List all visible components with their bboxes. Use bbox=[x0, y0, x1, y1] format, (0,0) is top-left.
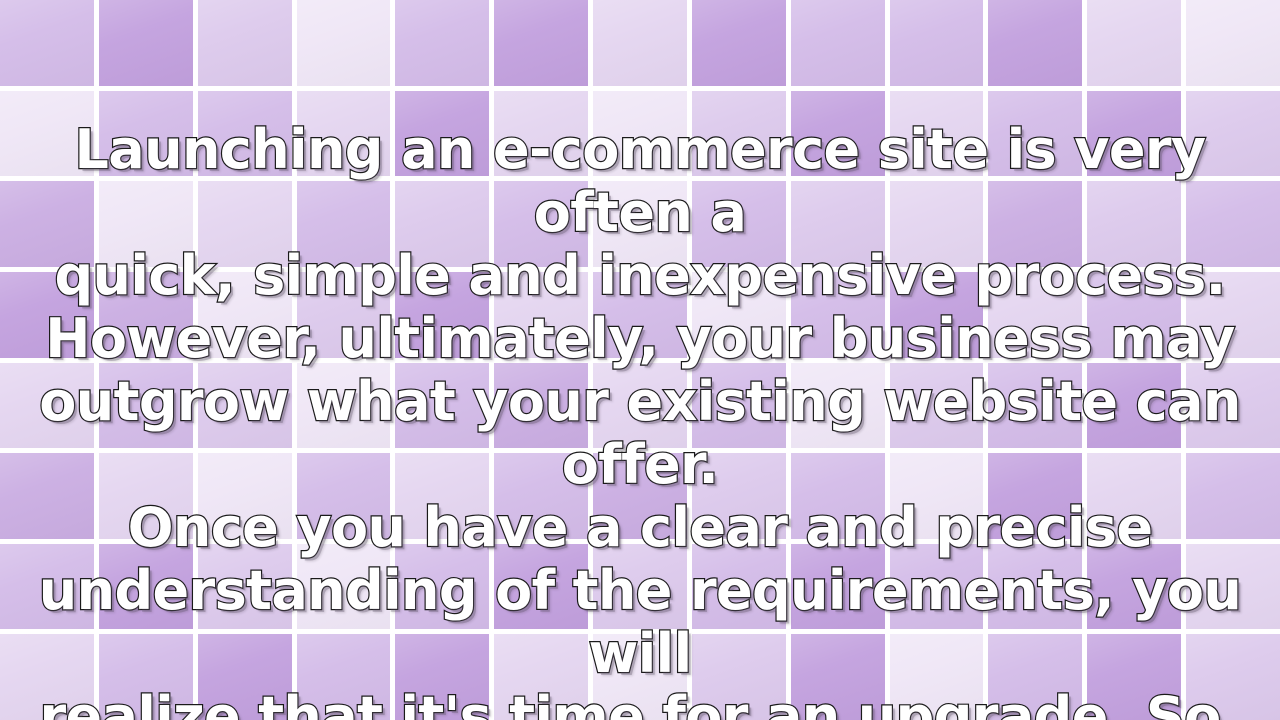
background-tile bbox=[692, 363, 786, 449]
background-tile bbox=[395, 544, 489, 630]
background-tile bbox=[593, 272, 687, 358]
background-tile bbox=[0, 91, 94, 177]
background-tile bbox=[890, 544, 984, 630]
background-tile bbox=[791, 181, 885, 267]
background-tile bbox=[494, 363, 588, 449]
background-tile bbox=[692, 634, 786, 720]
background-tile bbox=[297, 181, 391, 267]
background-tile bbox=[1087, 544, 1181, 630]
background-tile bbox=[1087, 181, 1181, 267]
background-tile bbox=[890, 91, 984, 177]
background-tile bbox=[692, 453, 786, 539]
background-tile bbox=[297, 634, 391, 720]
background-tile bbox=[988, 544, 1082, 630]
background-tile bbox=[395, 363, 489, 449]
background-tile bbox=[99, 91, 193, 177]
background-tile bbox=[593, 363, 687, 449]
background-tile bbox=[593, 453, 687, 539]
background-tile bbox=[692, 272, 786, 358]
background-tile bbox=[988, 91, 1082, 177]
background-tile bbox=[1186, 91, 1280, 177]
background-tile bbox=[692, 181, 786, 267]
background-tile bbox=[988, 634, 1082, 720]
background-tile bbox=[99, 0, 193, 86]
background-tile bbox=[494, 453, 588, 539]
background-tile bbox=[1087, 272, 1181, 358]
background-tile bbox=[1186, 0, 1280, 86]
background-tile bbox=[1186, 544, 1280, 630]
background-tile bbox=[791, 363, 885, 449]
background-tile bbox=[198, 363, 292, 449]
background-tile bbox=[99, 544, 193, 630]
background-tile bbox=[988, 272, 1082, 358]
background-tile bbox=[297, 453, 391, 539]
background-tile bbox=[890, 181, 984, 267]
background-tile bbox=[890, 634, 984, 720]
background-tile bbox=[988, 363, 1082, 449]
background-tile bbox=[1186, 272, 1280, 358]
background-tile bbox=[198, 272, 292, 358]
checkered-background bbox=[0, 0, 1280, 720]
background-tile bbox=[593, 181, 687, 267]
background-tile bbox=[988, 181, 1082, 267]
background-tile bbox=[395, 0, 489, 86]
background-tile bbox=[0, 0, 94, 86]
background-tile bbox=[297, 544, 391, 630]
background-tile bbox=[1186, 181, 1280, 267]
quote-card: Launching an e-commerce site is very oft… bbox=[0, 0, 1280, 720]
background-tile bbox=[593, 634, 687, 720]
background-tile bbox=[1087, 363, 1181, 449]
background-tile bbox=[99, 453, 193, 539]
background-tile bbox=[791, 544, 885, 630]
background-tile bbox=[593, 0, 687, 86]
background-tile bbox=[890, 453, 984, 539]
background-tile bbox=[692, 0, 786, 86]
background-tile bbox=[1186, 453, 1280, 539]
background-tile bbox=[593, 91, 687, 177]
background-tile bbox=[297, 91, 391, 177]
background-tile bbox=[593, 544, 687, 630]
background-tile bbox=[99, 634, 193, 720]
background-tile bbox=[494, 0, 588, 86]
background-tile bbox=[890, 272, 984, 358]
background-tile bbox=[494, 91, 588, 177]
background-tile bbox=[99, 363, 193, 449]
background-tile bbox=[99, 181, 193, 267]
background-tile bbox=[791, 91, 885, 177]
background-tile bbox=[494, 181, 588, 267]
background-tile bbox=[1186, 634, 1280, 720]
background-tile bbox=[890, 0, 984, 86]
background-tile bbox=[0, 453, 94, 539]
background-tile bbox=[0, 363, 94, 449]
background-tile bbox=[395, 272, 489, 358]
background-tile bbox=[1087, 91, 1181, 177]
background-tile bbox=[395, 634, 489, 720]
background-tile bbox=[297, 272, 391, 358]
background-tile bbox=[1087, 453, 1181, 539]
background-tile bbox=[791, 453, 885, 539]
background-tile bbox=[198, 634, 292, 720]
background-tile bbox=[791, 272, 885, 358]
background-tile bbox=[791, 634, 885, 720]
background-tile bbox=[395, 181, 489, 267]
background-tile bbox=[395, 453, 489, 539]
background-tile bbox=[494, 544, 588, 630]
background-tile bbox=[198, 453, 292, 539]
background-tile bbox=[494, 272, 588, 358]
background-tile bbox=[494, 634, 588, 720]
background-tile bbox=[99, 272, 193, 358]
background-tile bbox=[988, 453, 1082, 539]
background-tile bbox=[791, 0, 885, 86]
background-tile bbox=[692, 91, 786, 177]
background-tile bbox=[988, 0, 1082, 86]
background-tile bbox=[1186, 363, 1280, 449]
background-tile bbox=[395, 91, 489, 177]
background-tile bbox=[692, 544, 786, 630]
background-tile bbox=[198, 544, 292, 630]
background-tile bbox=[198, 91, 292, 177]
background-tile bbox=[198, 0, 292, 86]
background-tile bbox=[0, 272, 94, 358]
background-tile bbox=[1087, 634, 1181, 720]
background-tile bbox=[198, 181, 292, 267]
background-tile bbox=[0, 634, 94, 720]
background-tile bbox=[1087, 0, 1181, 86]
background-tile bbox=[890, 363, 984, 449]
background-tile bbox=[0, 544, 94, 630]
background-tile bbox=[0, 181, 94, 267]
background-tile bbox=[297, 363, 391, 449]
background-tile bbox=[297, 0, 391, 86]
